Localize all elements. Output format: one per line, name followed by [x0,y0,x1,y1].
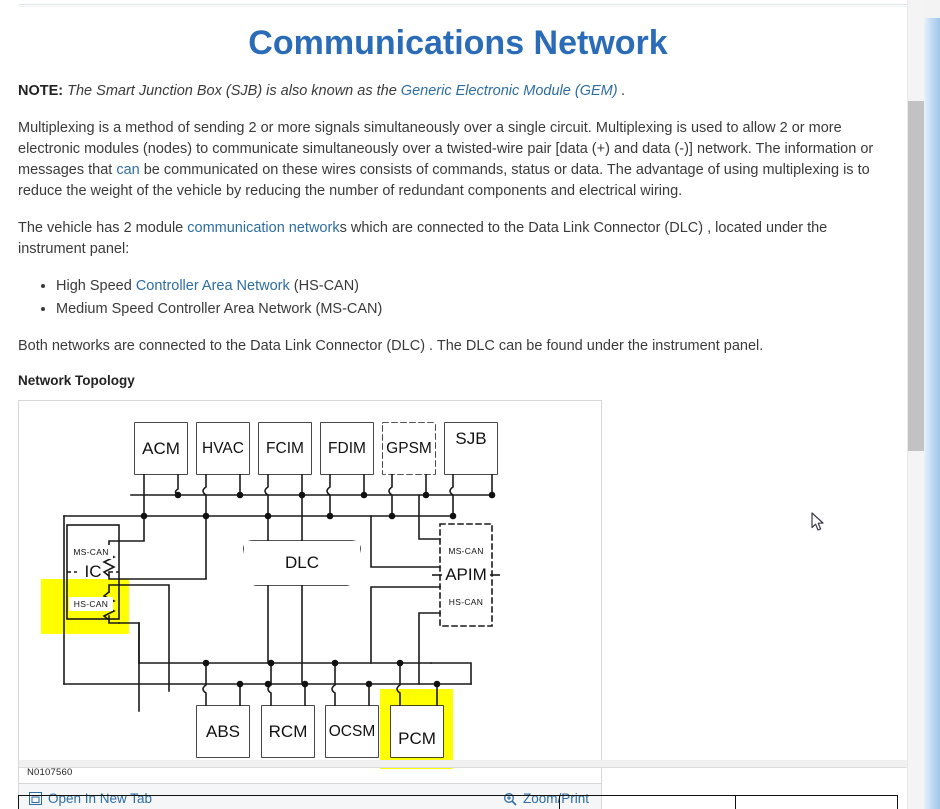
note-paragraph: NOTE: The Smart Junction Box (SJB) is al… [18,81,898,102]
network-topology-heading: Network Topology [18,373,898,388]
paragraph2-part-a: The vehicle has 2 module [18,220,187,236]
article-content: Communications Network NOTE: The Smart J… [18,18,898,809]
figure-id-label: N0107560 [27,767,72,778]
ic-ms-can-label: MS-CAN [69,545,113,559]
networks-paragraph: The vehicle has 2 module communication n… [18,218,898,260]
list-item: Medium Speed Controller Area Network (MS… [56,299,898,320]
communication-networks-link[interactable]: communication network [187,220,339,236]
panel-bottom-edge [18,760,912,768]
apim-hs-can-label: HS-CAN [442,595,490,609]
bullet-0-prefix: High Speed [56,278,136,294]
bottom-table [18,795,898,809]
apim-ms-can-label: MS-CAN [442,544,490,558]
top-divider [18,4,908,5]
paragraph1-part-b: be communicated on these wires consists … [18,162,870,199]
table-cell [736,796,897,809]
network-list: High Speed Controller Area Network (HS-C… [18,276,898,320]
figure-canvas: ACM HVAC FCIM FDIM GPSM SJB ABS RCM OCSM… [19,401,601,783]
page-scrollbar-thumb[interactable] [908,101,924,451]
page-title: Communications Network [18,24,898,63]
bullet-0-suffix: (HS-CAN) [290,278,359,294]
network-topology-figure: ACM HVAC FCIM FDIM GPSM SJB ABS RCM OCSM… [18,400,602,809]
can-link[interactable]: can [116,162,139,178]
top-divider-soft [18,6,908,7]
note-label: NOTE: [18,83,63,99]
list-item: High Speed Controller Area Network (HS-C… [56,276,898,297]
gem-link[interactable]: Generic Electronic Module (GEM) [401,83,618,99]
bullet-1-prefix: Medium Speed Controller Area Network (MS… [56,301,382,317]
apim-label-ticks [19,401,601,783]
note-text-after: . [618,83,626,99]
multiplexing-paragraph: Multiplexing is a method of sending 2 or… [18,118,898,202]
window-right-edge-top [924,0,940,18]
table-cell [19,796,560,809]
table-cell [560,796,736,809]
ic-hs-can-label: HS-CAN [69,597,113,611]
window-right-edge [924,0,940,809]
document-page: Communications Network NOTE: The Smart J… [0,0,912,809]
note-text-before: The Smart Junction Box (SJB) is also kno… [67,83,401,99]
controller-area-network-link[interactable]: Controller Area Network [136,278,290,294]
dlc-paragraph: Both networks are connected to the Data … [18,336,898,357]
